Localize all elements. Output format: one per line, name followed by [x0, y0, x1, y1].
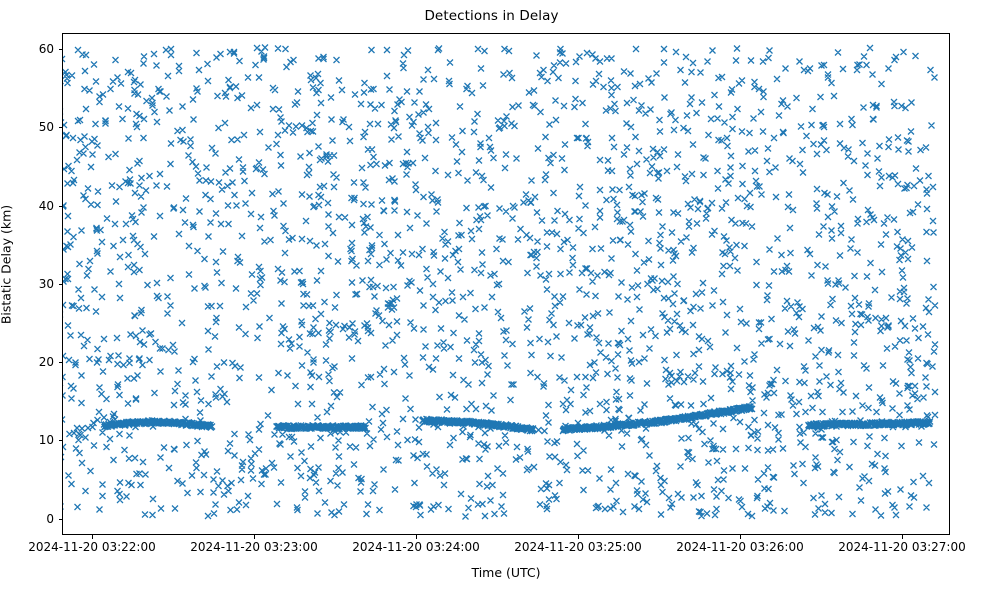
y-tick-mark [59, 362, 63, 363]
y-tick-mark [59, 206, 63, 207]
y-tick-mark [59, 127, 63, 128]
x-tick-mark [92, 535, 93, 539]
scatter-plot-svg [63, 34, 950, 535]
scatter-markers [63, 45, 938, 520]
y-tick-label: 10 [14, 434, 54, 446]
y-tick-mark [59, 519, 63, 520]
x-axis-label: Time (UTC) [62, 565, 950, 580]
page-title: Detections in Delay [0, 8, 983, 24]
y-tick-label: 30 [14, 278, 54, 290]
x-axis-tick-labels: 2024-11-20 03:22:002024-11-20 03:23:0020… [0, 541, 983, 557]
plot-area [62, 33, 950, 535]
y-tick-label: 0 [14, 513, 54, 525]
x-tick-mark [254, 535, 255, 539]
y-tick-label: 20 [14, 356, 54, 368]
x-tick-mark [578, 535, 579, 539]
y-tick-mark [59, 284, 63, 285]
y-tick-mark [59, 440, 63, 441]
y-tick-mark [59, 49, 63, 50]
x-tick-mark [416, 535, 417, 539]
matplotlib-figure: Detections in Delay 0102030405060 2024-1… [0, 0, 983, 590]
y-axis-label: Bistatic Delay (km) [0, 5, 14, 525]
x-tick-mark [740, 535, 741, 539]
y-tick-label: 60 [14, 43, 54, 55]
y-tick-label: 50 [14, 121, 54, 133]
y-tick-label: 40 [14, 200, 54, 212]
x-tick-mark [902, 535, 903, 539]
x-tick-label: 2024-11-20 03:27:00 [802, 541, 983, 553]
